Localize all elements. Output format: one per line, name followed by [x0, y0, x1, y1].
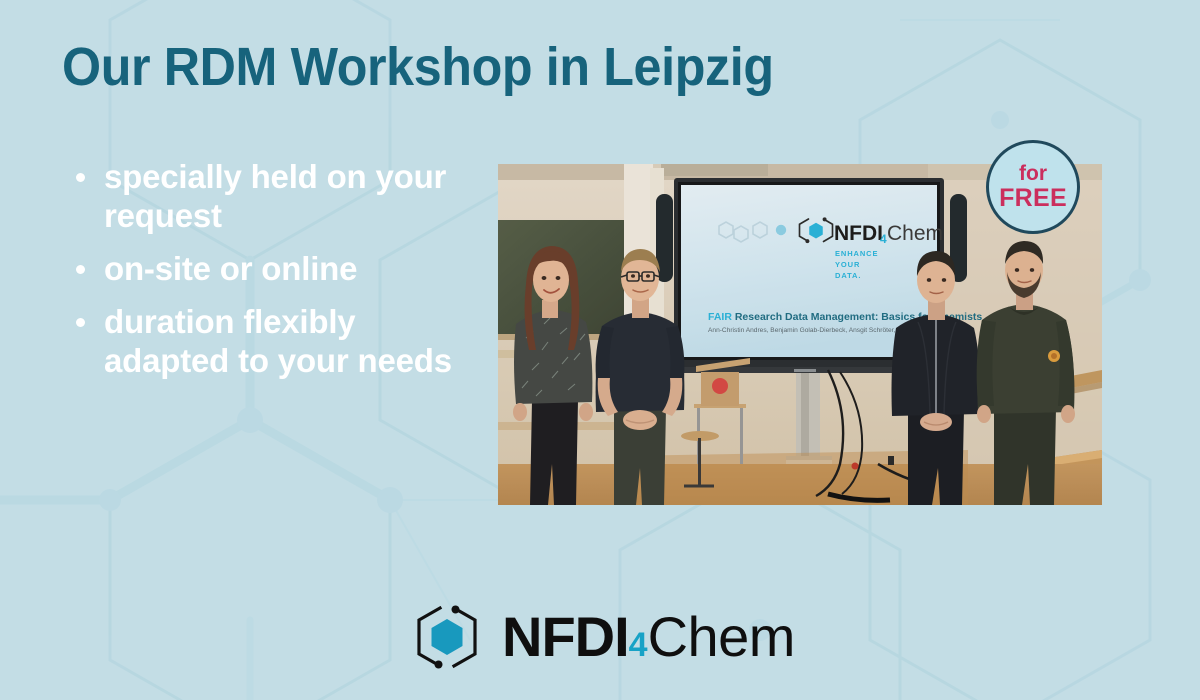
nfdi4chem-logo-wordmark: NFDI4Chem: [502, 609, 795, 665]
bullet-item: specially held on your request: [70, 158, 470, 236]
nfdi4chem-logo: NFDI4Chem: [410, 602, 795, 672]
nfdi4chem-logo-mark: [410, 602, 484, 672]
page-title: Our RDM Workshop in Leipzig: [62, 36, 774, 98]
bullet-item: on-site or online: [70, 250, 470, 289]
logo-word-nfdi: NFDI: [502, 605, 629, 668]
for-free-badge: for FREE: [986, 140, 1080, 234]
logo-word-chem: Chem: [648, 605, 795, 668]
feature-bullet-list: specially held on your request on-site o…: [70, 158, 470, 395]
bullet-item: duration flexibly adapted to your needs: [70, 303, 470, 381]
badge-line-free: FREE: [999, 185, 1067, 211]
poster-canvas: Our RDM Workshop in Leipzig specially he…: [0, 0, 1200, 700]
badge-line-for: for: [1019, 163, 1047, 185]
logo-word-four: 4: [629, 626, 648, 664]
